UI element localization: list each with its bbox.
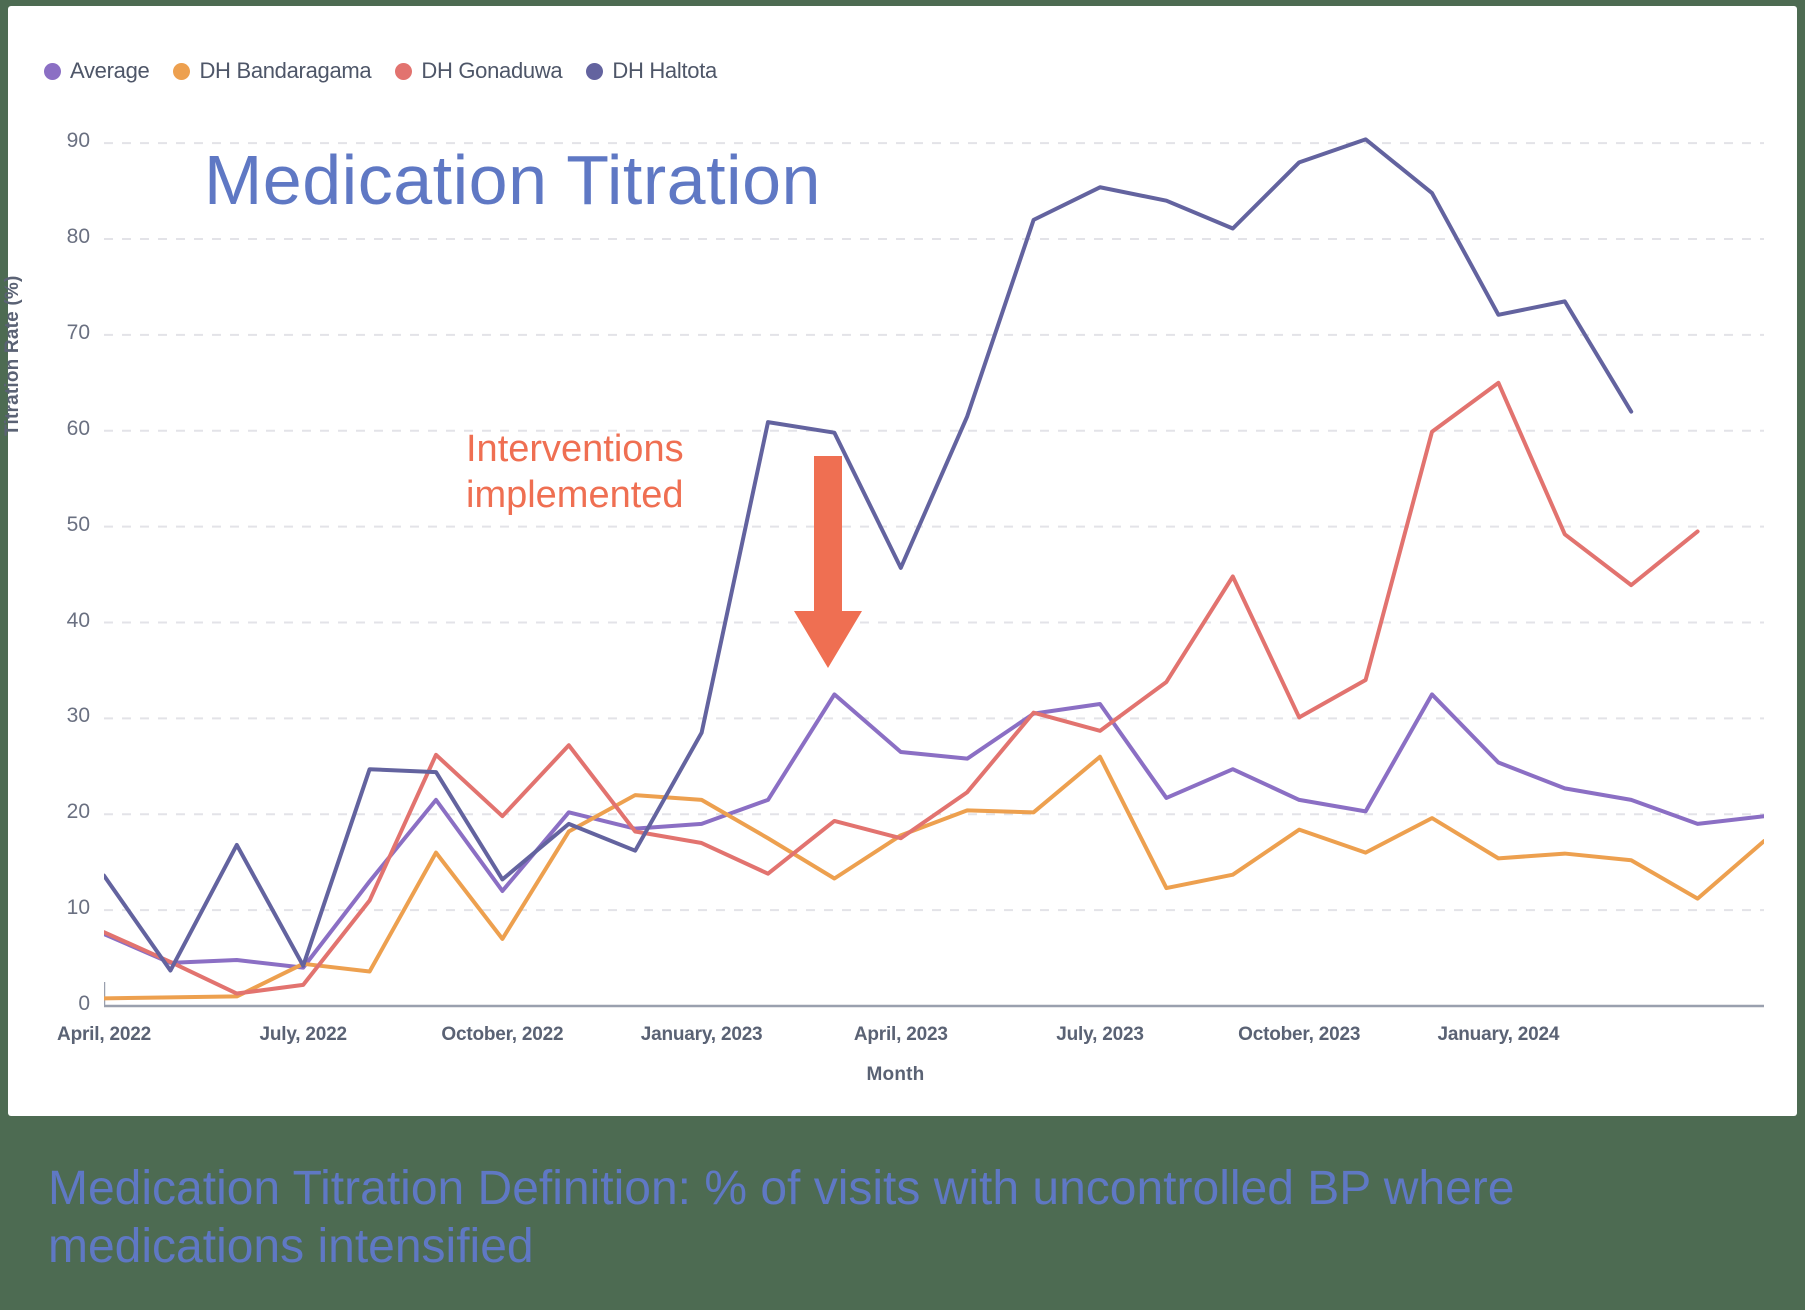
legend-label-average: Average	[70, 58, 149, 84]
plot-area	[104, 116, 1764, 1016]
y-axis-tick-label: 90	[30, 129, 90, 153]
x-axis-title: Month	[8, 1064, 1805, 1086]
chart-legend: Average DH Bandaragama DH Gonaduwa DH Ha…	[44, 58, 741, 84]
legend-item-average[interactable]: Average	[44, 58, 149, 84]
y-axis-tick-label: 50	[30, 513, 90, 537]
annotation-line-1: Interventions	[466, 426, 684, 472]
legend-swatch-haltota	[586, 63, 603, 80]
line-chart-svg	[104, 116, 1764, 1016]
x-axis-tick-label: October, 2023	[1189, 1024, 1409, 1046]
legend-swatch-bandaragama	[173, 63, 190, 80]
definition-caption: Medication Titration Definition: % of vi…	[48, 1160, 1768, 1276]
x-axis-tick-label: January, 2023	[592, 1024, 812, 1046]
y-axis-tick-label: 40	[30, 609, 90, 633]
legend-swatch-gonaduwa	[395, 63, 412, 80]
series-line[interactable]	[104, 694, 1764, 967]
annotation-text: Interventions implemented	[466, 426, 684, 518]
y-axis-tick-label: 0	[30, 992, 90, 1016]
x-axis-tick-label: April, 2023	[791, 1024, 1011, 1046]
x-axis-tick-label: January, 2024	[1388, 1024, 1608, 1046]
x-axis-tick-label: July, 2023	[990, 1024, 1210, 1046]
legend-item-bandaragama[interactable]: DH Bandaragama	[173, 58, 371, 84]
down-arrow-icon	[788, 456, 868, 671]
page-title: Medication Titration	[204, 140, 821, 220]
y-axis-tick-label: 80	[30, 225, 90, 249]
legend-swatch-average	[44, 63, 61, 80]
legend-item-haltota[interactable]: DH Haltota	[586, 58, 717, 84]
x-axis-tick-label: July, 2022	[193, 1024, 413, 1046]
series-line[interactable]	[104, 757, 1764, 999]
y-axis-tick-label: 60	[30, 417, 90, 441]
y-axis-tick-label: 10	[30, 896, 90, 920]
x-axis-tick-label: October, 2022	[392, 1024, 612, 1046]
y-axis-tick-label: 20	[30, 800, 90, 824]
legend-item-gonaduwa[interactable]: DH Gonaduwa	[395, 58, 562, 84]
x-axis-tick-label: April, 2022	[0, 1024, 214, 1046]
slide-root: Average DH Bandaragama DH Gonaduwa DH Ha…	[0, 0, 1805, 1310]
annotation-line-2: implemented	[466, 472, 684, 518]
y-axis-tick-label: 70	[30, 321, 90, 345]
legend-label-haltota: DH Haltota	[612, 58, 717, 84]
y-axis-tick-label: 30	[30, 704, 90, 728]
legend-label-gonaduwa: DH Gonaduwa	[421, 58, 562, 84]
chart-card: Average DH Bandaragama DH Gonaduwa DH Ha…	[8, 6, 1797, 1116]
series-line[interactable]	[104, 383, 1698, 994]
legend-label-bandaragama: DH Bandaragama	[199, 58, 371, 84]
y-axis-title: Titration Rate (%)	[2, 275, 24, 436]
